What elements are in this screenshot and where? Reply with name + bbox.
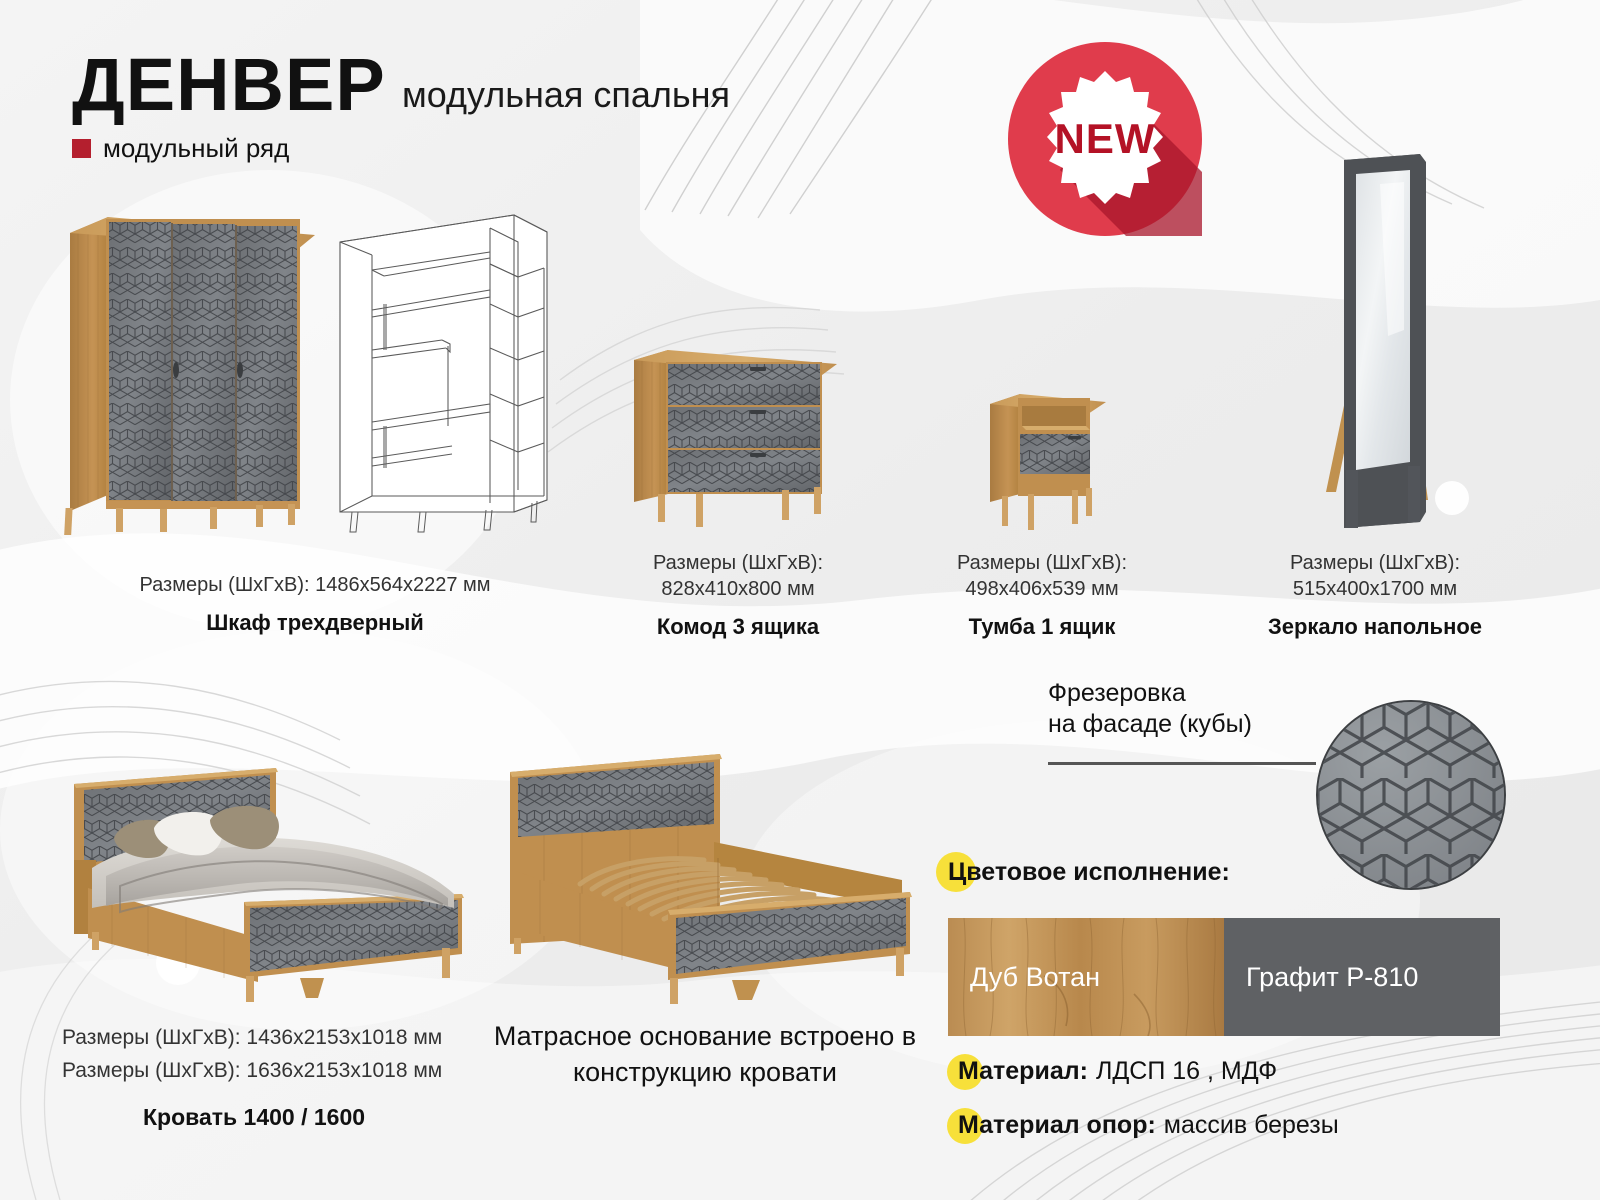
- page-title: ДЕНВЕР: [72, 48, 386, 122]
- product-diagram-wardrobe-interior: [322, 200, 557, 535]
- material-line-1: Материал: ЛДСП 16 , МДФ: [958, 1057, 1277, 1086]
- page-subtitle: модульная спальня: [402, 74, 730, 116]
- swatch-label: Графит Р-810: [1224, 962, 1418, 993]
- square-marker-icon: [72, 139, 91, 158]
- caption-bed-name: Кровать 1400 / 1600: [143, 1104, 365, 1131]
- modular-row-label: модульный ряд: [103, 133, 289, 164]
- caption-name: Зеркало напольное: [1215, 614, 1535, 640]
- caption-name: Шкаф трехдверный: [60, 610, 570, 636]
- new-badge-label: NEW: [1008, 42, 1202, 236]
- milling-line-2: на фасаде (кубы): [1048, 709, 1308, 740]
- bed-dims-1400: Размеры (ШхГхВ): 1436x2153x1018 мм: [62, 1022, 442, 1055]
- caption-dresser: Размеры (ШхГхВ): 828x410x800 мм Комод 3 …: [588, 550, 888, 640]
- milling-callout: Фрезеровка на фасаде (кубы): [1048, 678, 1308, 741]
- caption-wardrobe: Размеры (ШхГхВ): 1486x564x2227 мм Шкаф т…: [60, 572, 570, 636]
- mattress-base-note: Матрасное основание встроено в конструкц…: [480, 1018, 930, 1091]
- material-line-2: Материал опор: массив березы: [958, 1111, 1339, 1140]
- product-image-dresser: [622, 332, 854, 532]
- swatch-oak-votan: Дуб Вотан: [948, 918, 1224, 1036]
- milling-rule-divider: [1048, 762, 1316, 765]
- bed-dims-1600: Размеры (ШхГхВ): 1636x2153x1018 мм: [62, 1055, 442, 1088]
- material-value: ЛДСП 16 , МДФ: [1096, 1057, 1277, 1086]
- color-section-heading: Цветовое исполнение:: [948, 858, 1230, 887]
- product-image-bed-frame: [482, 732, 914, 1004]
- poster-header: ДЕНВЕР модульная спальня: [72, 48, 386, 122]
- material-label: Материал опор:: [958, 1111, 1156, 1140]
- caption-mirror: Размеры (ШхГхВ): 515x400x1700 мм Зеркало…: [1215, 550, 1535, 640]
- swatch-label: Дуб Вотан: [948, 962, 1100, 993]
- caption-name: Комод 3 ящика: [588, 614, 888, 640]
- color-swatch-row: Дуб Вотан Графит Р-810: [948, 918, 1500, 1036]
- caption-name: Тумба 1 ящик: [902, 614, 1182, 640]
- caption-dims: Размеры (ШхГхВ): 828x410x800 мм: [588, 550, 888, 602]
- product-image-mirror: [1318, 140, 1458, 535]
- modular-row-tag: модульный ряд: [72, 133, 289, 164]
- caption-dims: Размеры (ШхГхВ): 498x406x539 мм: [902, 550, 1182, 602]
- caption-dims: Размеры (ШхГхВ): 515x400x1700 мм: [1215, 550, 1535, 602]
- product-image-wardrobe: [60, 195, 330, 540]
- swatch-graphite: Графит Р-810: [1224, 918, 1500, 1036]
- cube-pattern-circle-icon: [1316, 700, 1506, 890]
- new-badge: NEW: [1008, 42, 1202, 236]
- material-label: Материал:: [958, 1057, 1088, 1086]
- milling-line-1: Фрезеровка: [1048, 678, 1308, 709]
- caption-nightstand: Размеры (ШхГхВ): 498x406x539 мм Тумба 1 …: [902, 550, 1182, 640]
- material-value: массив березы: [1164, 1111, 1339, 1140]
- poster-canvas: ДЕНВЕР модульная спальня модульный ряд N…: [0, 0, 1600, 1200]
- product-image-bed-made: [62, 742, 482, 1004]
- caption-bed-dims: Размеры (ШхГхВ): 1436x2153x1018 мм Разме…: [62, 1022, 442, 1087]
- caption-dims: Размеры (ШхГхВ): 1486x564x2227 мм: [60, 572, 570, 598]
- product-image-nightstand: [962, 372, 1122, 534]
